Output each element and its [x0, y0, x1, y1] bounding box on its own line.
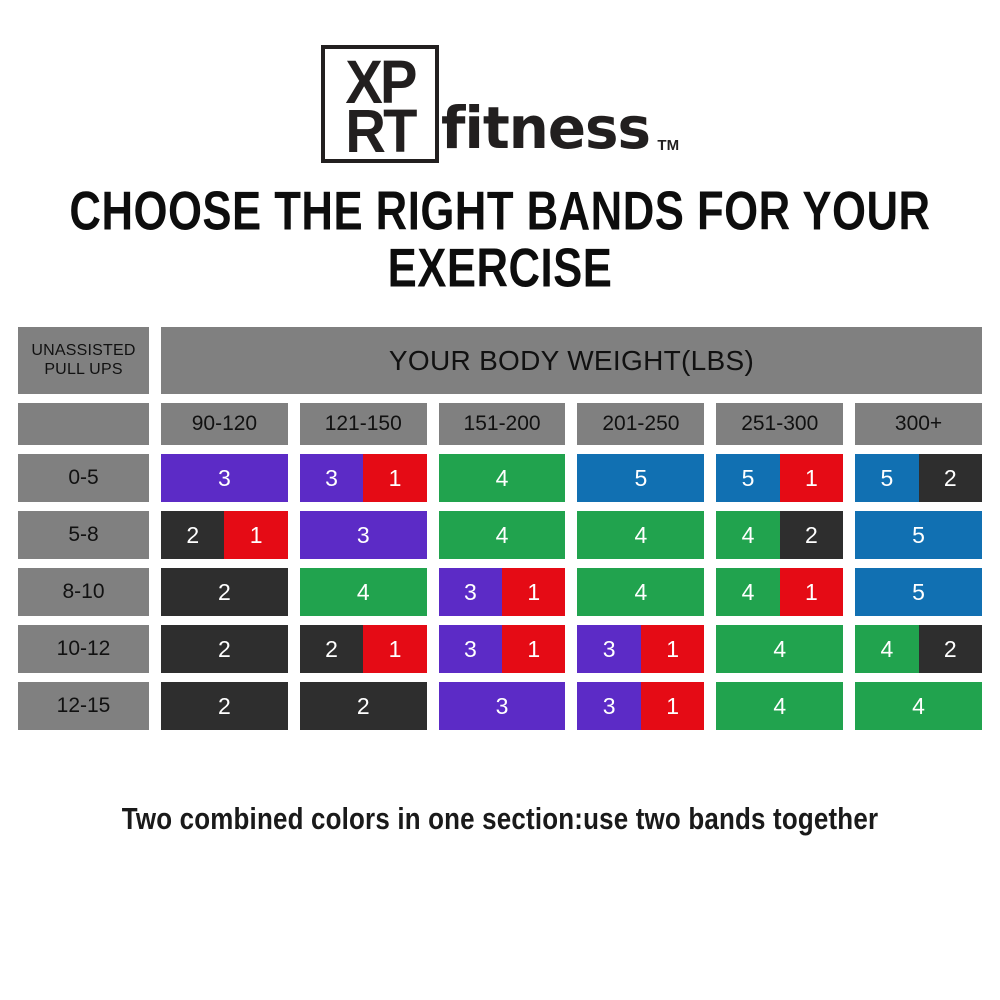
corner-header-line2: PULL UPS	[44, 361, 122, 379]
band-cell-r3-c2: 31	[439, 625, 566, 673]
table-group-header-row: UNASSISTED PULL UPS YOUR BODY WEIGHT(LBS…	[18, 327, 982, 394]
logo-mark-bottom-text: RT	[329, 101, 430, 162]
band-segment-2: 2	[300, 625, 363, 673]
band-segment-3: 3	[577, 625, 640, 673]
band-cell-r2-c3: 4	[577, 568, 704, 616]
band-segment-5: 5	[855, 511, 982, 559]
band-segment-4: 4	[855, 682, 982, 730]
band-segment-3: 3	[300, 511, 427, 559]
band-segment-4: 4	[577, 568, 704, 616]
band-cell-r3-c4: 4	[716, 625, 843, 673]
band-segment-2: 2	[161, 682, 288, 730]
band-segment-4: 4	[577, 511, 704, 559]
band-cell-r0-c2: 4	[439, 454, 566, 502]
band-cell-r4-c0: 2	[161, 682, 288, 730]
brand-logo: XP RT fitness TM	[0, 38, 1000, 163]
band-segment-2: 2	[161, 511, 224, 559]
band-segment-5: 5	[577, 454, 704, 502]
band-segment-2: 2	[161, 568, 288, 616]
table-row: 8-1024314415	[18, 568, 982, 616]
corner-header-line1: UNASSISTED	[31, 342, 135, 360]
band-cell-r0-c0: 3	[161, 454, 288, 502]
table-row: 0-5331455152	[18, 454, 982, 502]
band-cell-r3-c3: 31	[577, 625, 704, 673]
column-header-3: 201-250	[577, 403, 704, 445]
row-label-10-12: 10-12	[18, 625, 149, 673]
band-cell-r0-c1: 31	[300, 454, 427, 502]
column-header-1: 121-150	[300, 403, 427, 445]
bands-table: UNASSISTED PULL UPS YOUR BODY WEIGHT(LBS…	[18, 327, 982, 730]
band-segment-3: 3	[300, 454, 363, 502]
band-cell-r3-c1: 21	[300, 625, 427, 673]
band-segment-4: 4	[716, 625, 843, 673]
column-header-5: 300+	[855, 403, 982, 445]
band-segment-4: 4	[716, 682, 843, 730]
band-segment-4: 4	[855, 625, 918, 673]
band-segment-1: 1	[224, 511, 287, 559]
table-row: 5-821344425	[18, 511, 982, 559]
band-segment-4: 4	[439, 511, 566, 559]
trademark-symbol: TM	[657, 138, 679, 163]
band-cell-r4-c4: 4	[716, 682, 843, 730]
band-cell-r3-c5: 42	[855, 625, 982, 673]
corner-header-cell: UNASSISTED PULL UPS	[18, 327, 149, 394]
column-header-spacer	[18, 403, 149, 445]
group-header-cell: YOUR BODY WEIGHT(LBS)	[161, 327, 982, 394]
band-segment-5: 5	[855, 568, 982, 616]
footer-note: Two combined colors in one section:use t…	[20, 802, 980, 837]
column-header-2: 151-200	[439, 403, 566, 445]
band-segment-1: 1	[502, 625, 565, 673]
band-cell-r4-c1: 2	[300, 682, 427, 730]
band-segment-4: 4	[439, 454, 566, 502]
logo-lockup: XP RT fitness TM	[321, 43, 679, 163]
band-cell-r1-c0: 21	[161, 511, 288, 559]
band-segment-2: 2	[300, 682, 427, 730]
band-cell-r1-c2: 4	[439, 511, 566, 559]
band-cell-r0-c3: 5	[577, 454, 704, 502]
band-segment-1: 1	[502, 568, 565, 616]
table-row: 12-152233144	[18, 682, 982, 730]
band-segment-2: 2	[780, 511, 843, 559]
column-header-0: 90-120	[161, 403, 288, 445]
band-cell-r0-c4: 51	[716, 454, 843, 502]
band-segment-1: 1	[641, 625, 704, 673]
logo-wordmark: fitness	[441, 99, 650, 163]
row-label-8-10: 8-10	[18, 568, 149, 616]
band-selection-infographic: XP RT fitness TM CHOOSE THE RIGHT BANDS …	[0, 0, 1000, 1000]
band-segment-3: 3	[439, 625, 502, 673]
band-cell-r2-c0: 2	[161, 568, 288, 616]
band-segment-4: 4	[716, 568, 779, 616]
band-segment-3: 3	[439, 568, 502, 616]
band-cell-r4-c3: 31	[577, 682, 704, 730]
band-cell-r0-c5: 52	[855, 454, 982, 502]
row-label-12-15: 12-15	[18, 682, 149, 730]
row-label-5-8: 5-8	[18, 511, 149, 559]
band-segment-2: 2	[919, 454, 982, 502]
band-segment-5: 5	[855, 454, 918, 502]
table-column-header-row: 90-120 121-150 151-200 201-250 251-300 3…	[18, 403, 982, 445]
band-cell-r2-c2: 31	[439, 568, 566, 616]
band-segment-1: 1	[363, 625, 426, 673]
column-header-4: 251-300	[716, 403, 843, 445]
band-segment-2: 2	[161, 625, 288, 673]
band-segment-4: 4	[300, 568, 427, 616]
band-segment-1: 1	[780, 568, 843, 616]
band-cell-r1-c5: 5	[855, 511, 982, 559]
band-cell-r4-c2: 3	[439, 682, 566, 730]
band-segment-3: 3	[161, 454, 288, 502]
band-segment-3: 3	[439, 682, 566, 730]
band-cell-r2-c5: 5	[855, 568, 982, 616]
band-segment-1: 1	[363, 454, 426, 502]
table-body: 0-53314551525-8213444258-102431441510-12…	[18, 454, 982, 730]
band-cell-r3-c0: 2	[161, 625, 288, 673]
band-cell-r4-c5: 4	[855, 682, 982, 730]
band-cell-r1-c1: 3	[300, 511, 427, 559]
page-title: CHOOSE THE RIGHT BANDS FOR YOUR EXERCISE	[35, 182, 965, 296]
band-segment-2: 2	[919, 625, 982, 673]
band-cell-r1-c4: 42	[716, 511, 843, 559]
xprt-logo-mark: XP RT	[321, 45, 439, 163]
table-row: 10-122213131442	[18, 625, 982, 673]
band-cell-r2-c4: 41	[716, 568, 843, 616]
band-cell-r1-c3: 4	[577, 511, 704, 559]
band-cell-r2-c1: 4	[300, 568, 427, 616]
band-segment-4: 4	[716, 511, 779, 559]
row-label-0-5: 0-5	[18, 454, 149, 502]
band-segment-3: 3	[577, 682, 640, 730]
band-segment-1: 1	[780, 454, 843, 502]
band-segment-1: 1	[641, 682, 704, 730]
band-segment-5: 5	[716, 454, 779, 502]
